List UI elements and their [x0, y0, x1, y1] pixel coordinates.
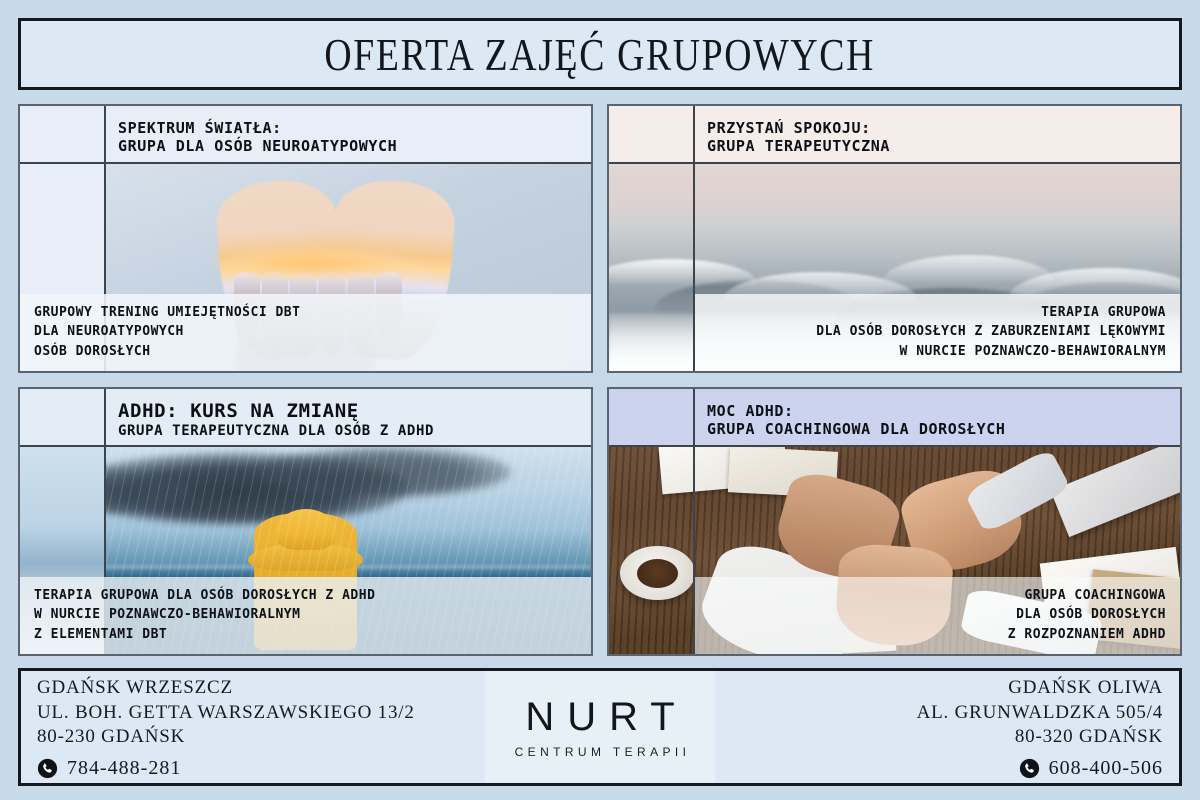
card-title-line2: GRUPA DLA OSÓB NEUROATYPOWYCH	[118, 137, 581, 155]
page-title: OFERTA ZAJĘĆ GRUPOWYCH	[325, 28, 876, 81]
card-caption: GRUPA COACHINGOWA DLA OSÓB DOROSŁYCH Z R…	[695, 577, 1180, 655]
address-postal: 80-320 GDAŃSK	[1015, 725, 1163, 749]
card-title-line2: GRUPA COACHINGOWA DLA DOROSŁYCH	[707, 420, 1170, 438]
caption-line: DLA NEUROATYPOWYCH	[34, 322, 577, 342]
footer-bar: GDAŃSK WRZESZCZ UL. BOH. GETTA WARSZAWSK…	[18, 668, 1182, 786]
caption-line: DLA OSÓB DOROSŁYCH	[709, 605, 1166, 625]
caption-line: W NURCIE POZNAWCZO-BEHAWIORALNYM	[34, 605, 577, 625]
offer-card-spektrum-swiatla[interactable]: SPEKTRUM ŚWIATŁA: GRUPA DLA OSÓB NEUROAT…	[18, 104, 593, 373]
card-title-line1: ADHD: KURS NA ZMIANĘ	[118, 400, 581, 423]
phone-number: 784-488-281	[67, 757, 181, 780]
caption-line: Z ROZPOZNANIEM ADHD	[709, 625, 1166, 645]
address-street: UL. BOH. GETTA WARSZAWSKIEGO 13/2	[37, 701, 469, 725]
card-title-line2: GRUPA TERAPEUTYCZNA DLA OSÓB Z ADHD	[118, 423, 581, 440]
card-title-line1: SPEKTRUM ŚWIATŁA:	[118, 119, 581, 137]
title-bar: OFERTA ZAJĘĆ GRUPOWYCH	[18, 18, 1182, 90]
caption-line: GRUPOWY TRENING UMIEJĘTNOŚCI DBT	[34, 303, 577, 323]
footer-address-oliwa: GDAŃSK OLIWA AL. GRUNWALDZKA 505/4 80-32…	[715, 671, 1179, 783]
card-header: MOC ADHD: GRUPA COACHINGOWA DLA DOROSŁYC…	[609, 389, 1180, 447]
card-caption: TERAPIA GRUPOWA DLA OSÓB DOROSŁYCH Z ADH…	[20, 577, 591, 655]
phone-icon	[1019, 758, 1040, 779]
card-header: PRZYSTAŃ SPOKOJU: GRUPA TERAPEUTYCZNA	[609, 106, 1180, 164]
card-title-line1: PRZYSTAŃ SPOKOJU:	[707, 119, 1170, 137]
card-caption: GRUPOWY TRENING UMIEJĘTNOŚCI DBT DLA NEU…	[20, 294, 591, 372]
card-title-line2: GRUPA TERAPEUTYCZNA	[707, 137, 1170, 155]
brand-logo: NURT CENTRUM TERAPII	[485, 671, 715, 783]
caption-line: OSÓB DOROSŁYCH	[34, 342, 577, 362]
card-header: SPEKTRUM ŚWIATŁA: GRUPA DLA OSÓB NEUROAT…	[20, 106, 591, 164]
caption-line: W NURCIE POZNAWCZO-BEHAWIORALNYM	[709, 342, 1166, 362]
header-gutter	[609, 389, 695, 445]
offer-card-moc-adhd[interactable]: MOC ADHD: GRUPA COACHINGOWA DLA DOROSŁYC…	[607, 387, 1182, 656]
caption-line: Z ELEMENTAMI DBT	[34, 625, 577, 645]
offer-card-adhd-kurs-na-zmiane[interactable]: ADHD: KURS NA ZMIANĘ GRUPA TERAPEUTYCZNA…	[18, 387, 593, 656]
card-header-text: PRZYSTAŃ SPOKOJU: GRUPA TERAPEUTYCZNA	[695, 106, 1180, 162]
offer-card-przystan-spokoju[interactable]: PRZYSTAŃ SPOKOJU: GRUPA TERAPEUTYCZNA TE…	[607, 104, 1182, 373]
card-header: ADHD: KURS NA ZMIANĘ GRUPA TERAPEUTYCZNA…	[20, 389, 591, 447]
address-postal: 80-230 GDAŃSK	[37, 725, 469, 749]
card-header-text: MOC ADHD: GRUPA COACHINGOWA DLA DOROSŁYC…	[695, 389, 1180, 445]
header-gutter	[20, 389, 106, 445]
card-body: GRUPA COACHINGOWA DLA OSÓB DOROSŁYCH Z R…	[609, 447, 1180, 654]
address-street: AL. GRUNWALDZKA 505/4	[917, 701, 1163, 725]
address-city: GDAŃSK WRZESZCZ	[37, 676, 469, 700]
header-gutter	[609, 106, 695, 162]
phone-number: 608-400-506	[1049, 757, 1163, 780]
header-gutter	[20, 106, 106, 162]
logo-wordmark: NURT	[512, 697, 687, 737]
card-title-line1: MOC ADHD:	[707, 402, 1170, 420]
phone-row[interactable]: 784-488-281	[37, 757, 469, 780]
card-header-text: ADHD: KURS NA ZMIANĘ GRUPA TERAPEUTYCZNA…	[106, 389, 591, 445]
caption-line: DLA OSÓB DOROSŁYCH Z ZABURZENIAMI LĘKOWY…	[709, 322, 1166, 342]
address-city: GDAŃSK OLIWA	[1008, 676, 1163, 700]
card-body: TERAPIA GRUPOWA DLA OSÓB DOROSŁYCH Z ADH…	[20, 447, 591, 654]
caption-line: TERAPIA GRUPOWA	[709, 303, 1166, 323]
phone-icon	[37, 758, 58, 779]
card-body: GRUPOWY TRENING UMIEJĘTNOŚCI DBT DLA NEU…	[20, 164, 591, 371]
card-caption: TERAPIA GRUPOWA DLA OSÓB DOROSŁYCH Z ZAB…	[695, 294, 1180, 372]
logo-subtitle: CENTRUM TERAPII	[510, 745, 691, 759]
caption-line: TERAPIA GRUPOWA DLA OSÓB DOROSŁYCH Z ADH…	[34, 586, 577, 606]
card-header-text: SPEKTRUM ŚWIATŁA: GRUPA DLA OSÓB NEUROAT…	[106, 106, 591, 162]
footer-address-wrzeszcz: GDAŃSK WRZESZCZ UL. BOH. GETTA WARSZAWSK…	[21, 671, 485, 783]
offer-card-grid: SPEKTRUM ŚWIATŁA: GRUPA DLA OSÓB NEUROAT…	[18, 90, 1182, 668]
poster-root: OFERTA ZAJĘĆ GRUPOWYCH SPEKTRUM ŚWIATŁA:…	[0, 0, 1200, 800]
card-body: TERAPIA GRUPOWA DLA OSÓB DOROSŁYCH Z ZAB…	[609, 164, 1180, 371]
phone-row[interactable]: 608-400-506	[1019, 757, 1163, 780]
caption-line: GRUPA COACHINGOWA	[709, 586, 1166, 606]
